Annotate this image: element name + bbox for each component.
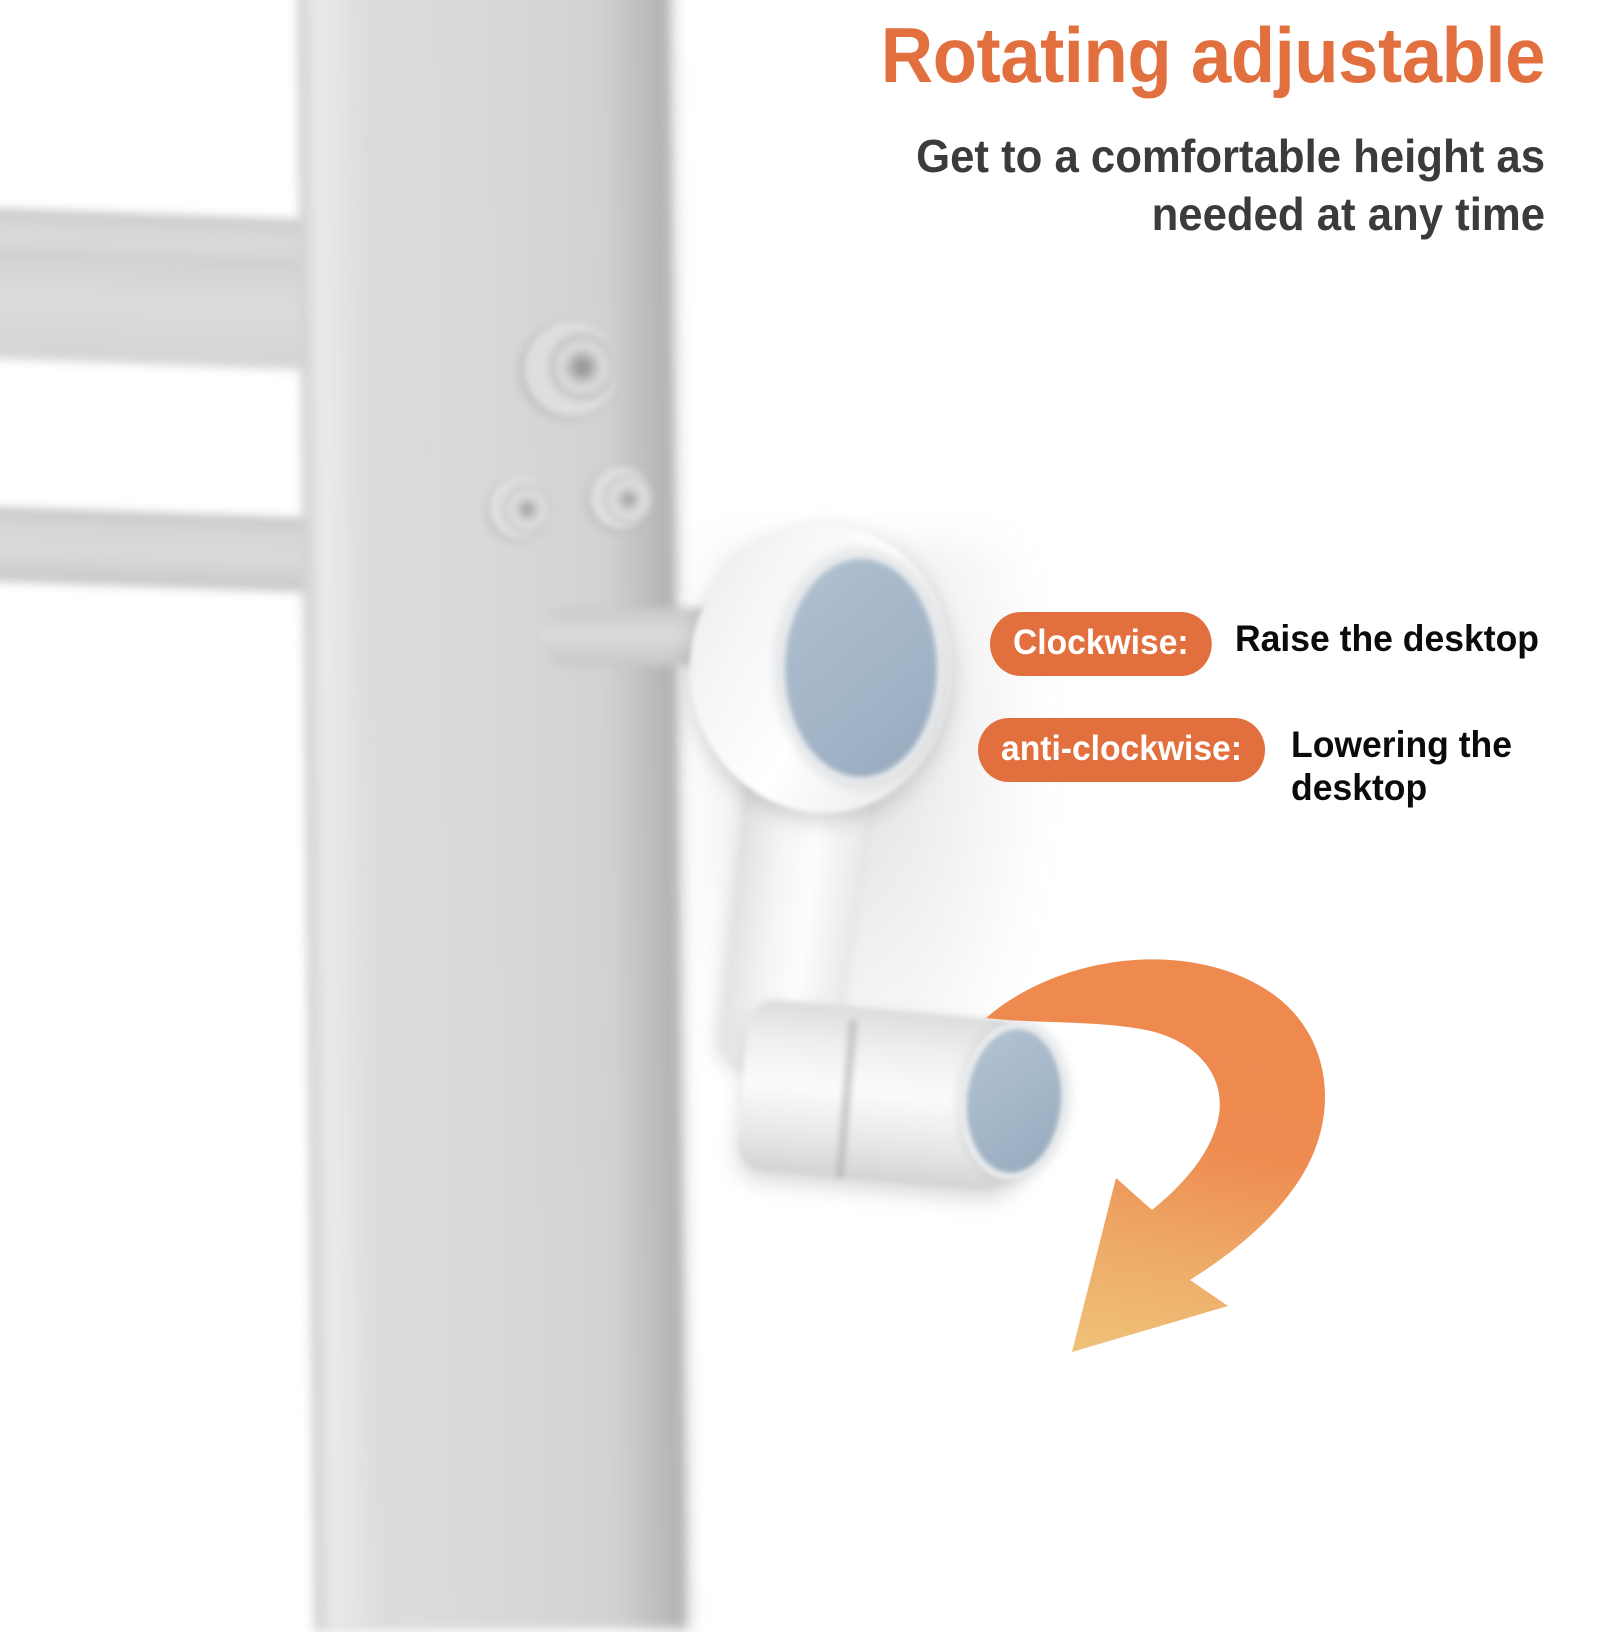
crank-knob-cap bbox=[778, 552, 944, 784]
crank-drive-shaft bbox=[540, 608, 740, 666]
crank-knob bbox=[690, 525, 952, 813]
clockwise-rotation-arrow-icon bbox=[940, 920, 1340, 1360]
hex-bolt-small-right-icon bbox=[590, 467, 652, 529]
column-highlight bbox=[309, 0, 384, 1630]
subtitle-line-1: Get to a comfortable height as bbox=[861, 128, 1545, 186]
page-subtitle: Get to a comfortable height as needed at… bbox=[861, 128, 1545, 244]
frame-crossbar-upper bbox=[0, 253, 362, 372]
frame-crossbar-upper-edge bbox=[0, 207, 361, 278]
infographic-canvas: Rotating adjustable Get to a comfortable… bbox=[0, 0, 1600, 1600]
callout-anti-clockwise: anti-clockwise: Lowering the desktop bbox=[978, 718, 1521, 810]
hex-bolt-large-icon bbox=[524, 322, 618, 416]
status-badge-clockwise: Clockwise: bbox=[990, 612, 1212, 676]
column-shading bbox=[603, 0, 690, 1630]
callout-anti-clockwise-line-2: desktop bbox=[1291, 767, 1512, 810]
callout-anti-clockwise-description: Lowering the desktop bbox=[1291, 718, 1512, 810]
page-title: Rotating adjustable bbox=[708, 16, 1545, 96]
status-badge-anti-clockwise: anti-clockwise: bbox=[978, 718, 1265, 782]
hex-bolt-small-left-icon bbox=[489, 477, 551, 539]
callout-anti-clockwise-line-1: Lowering the bbox=[1291, 724, 1512, 767]
callout-clockwise: Clockwise: Raise the desktop bbox=[990, 612, 1552, 676]
subtitle-line-2: needed at any time bbox=[861, 186, 1545, 244]
callout-clockwise-description: Raise the desktop bbox=[1235, 612, 1539, 661]
frame-crossbar-lower bbox=[0, 506, 361, 594]
crank-grip-seam bbox=[835, 1020, 858, 1178]
desk-leg-column bbox=[296, 0, 685, 1632]
crank-arm bbox=[718, 737, 876, 1073]
column-texture bbox=[320, 0, 665, 1600]
